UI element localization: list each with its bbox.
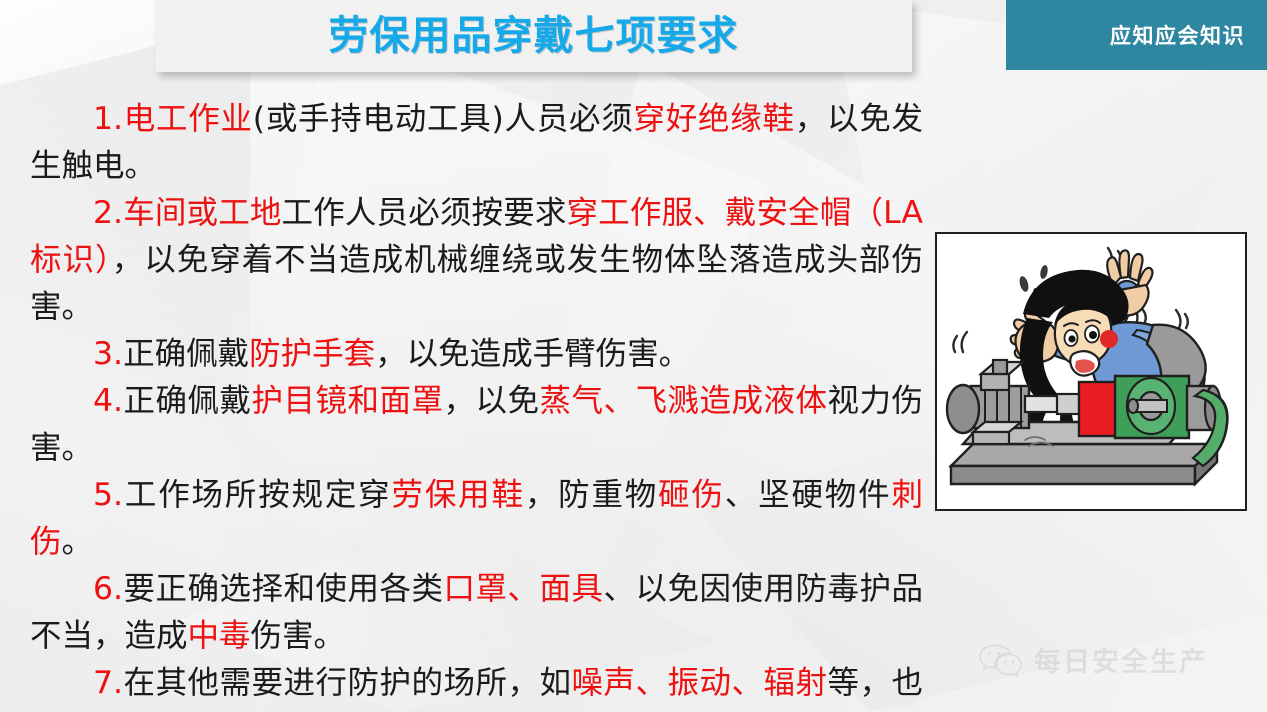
requirement-text: ，防重物 — [525, 477, 658, 513]
requirement-highlight: 中毒 — [188, 618, 251, 654]
requirement-highlight: 护目镜和面罩 — [252, 383, 444, 419]
requirement-number: 3. — [93, 336, 123, 372]
requirement-highlight: 劳保用鞋 — [392, 477, 525, 513]
requirement-text: 在其他需要进行防护的场所，如 — [123, 665, 571, 701]
requirement-highlight: 蒸气、飞溅造成液体 — [540, 383, 828, 419]
requirement-text: 正确佩戴 — [123, 336, 249, 372]
title-card: 劳保用品穿戴七项要求 — [155, 0, 912, 72]
wechat-icon — [978, 643, 1024, 677]
requirement-text: ，以免穿着不当造成机械缠绕或发生物体坠落造成头部伤害。 — [30, 242, 923, 325]
requirement-highlight: 电工作业 — [123, 101, 253, 137]
requirement-highlight: 砸伤 — [658, 477, 725, 513]
requirement-item: 2.车间或工地工作人员必须按要求穿工作服、戴安全帽（LA标识），以免穿着不当造成… — [30, 190, 923, 331]
requirement-item: 3.正确佩戴防护手套，以免造成手臂伤害。 — [30, 331, 923, 378]
requirement-number: 6. — [93, 571, 123, 607]
watermark: 每日安全生产 — [978, 640, 1208, 679]
requirement-highlight: 车间或工地 — [123, 195, 281, 231]
requirement-text: 要正确选择和使用各类 — [123, 571, 443, 607]
requirement-number: 5. — [93, 477, 123, 513]
requirement-text: (或手持电动工具)人员必须 — [253, 101, 634, 137]
requirement-item: 1.电工作业(或手持电动工具)人员必须穿好绝缘鞋，以免发生触电。 — [30, 96, 923, 190]
requirement-highlight: 穿好绝缘鞋 — [634, 101, 795, 137]
requirement-text: 、坚硬物件 — [725, 477, 892, 513]
requirement-text: 正确佩戴 — [123, 383, 251, 419]
requirement-highlight: 噪声、振动、辐射 — [572, 665, 828, 701]
requirement-number: 7. — [93, 665, 123, 701]
requirement-item: 6.要正确选择和使用各类口罩、面具、以免因使用防毒护品不当，造成中毒伤害。 — [30, 566, 923, 660]
requirement-text: 伤害。 — [251, 618, 346, 654]
watermark-label: 每日安全生产 — [1034, 640, 1208, 679]
requirement-item: 5.工作场所按规定穿劳保用鞋，防重物砸伤、坚硬物件刺伤。 — [30, 472, 923, 566]
requirements-list: 1.电工作业(或手持电动工具)人员必须穿好绝缘鞋，以免发生触电。2.车间或工地工… — [30, 96, 923, 712]
requirement-text: 。 — [62, 524, 94, 560]
requirement-number: 2. — [93, 195, 123, 231]
requirement-text: 工作人员必须按要求 — [282, 195, 567, 231]
requirement-item: 7.在其他需要进行防护的场所，如噪声、振动、辐射等，也要正确佩戴和使用劳动防护用… — [30, 660, 923, 712]
slide-canvas: 劳保用品穿戴七项要求 应知应会知识 1.电工作业(或手持电动工具)人员必须穿好绝… — [0, 0, 1267, 712]
requirement-text: ，以免造成手臂伤害。 — [375, 336, 690, 372]
corner-banner-label: 应知应会知识 — [1110, 20, 1245, 50]
requirement-number: 4. — [93, 383, 123, 419]
hazard-illustration — [935, 232, 1247, 511]
requirement-text: 工作场所按规定穿 — [123, 477, 391, 513]
requirement-text: ，以免 — [444, 383, 540, 419]
requirement-highlight: 口罩、面具 — [444, 571, 604, 607]
requirement-number: 1. — [93, 101, 123, 137]
requirement-item: 4.正确佩戴护目镜和面罩，以免蒸气、飞溅造成液体视力伤害。 — [30, 378, 923, 472]
page-title: 劳保用品穿戴七项要求 — [329, 16, 739, 56]
corner-banner: 应知应会知识 — [1006, 0, 1267, 70]
lathe-entanglement-drawing — [937, 234, 1245, 509]
requirement-highlight: 防护手套 — [249, 336, 375, 372]
